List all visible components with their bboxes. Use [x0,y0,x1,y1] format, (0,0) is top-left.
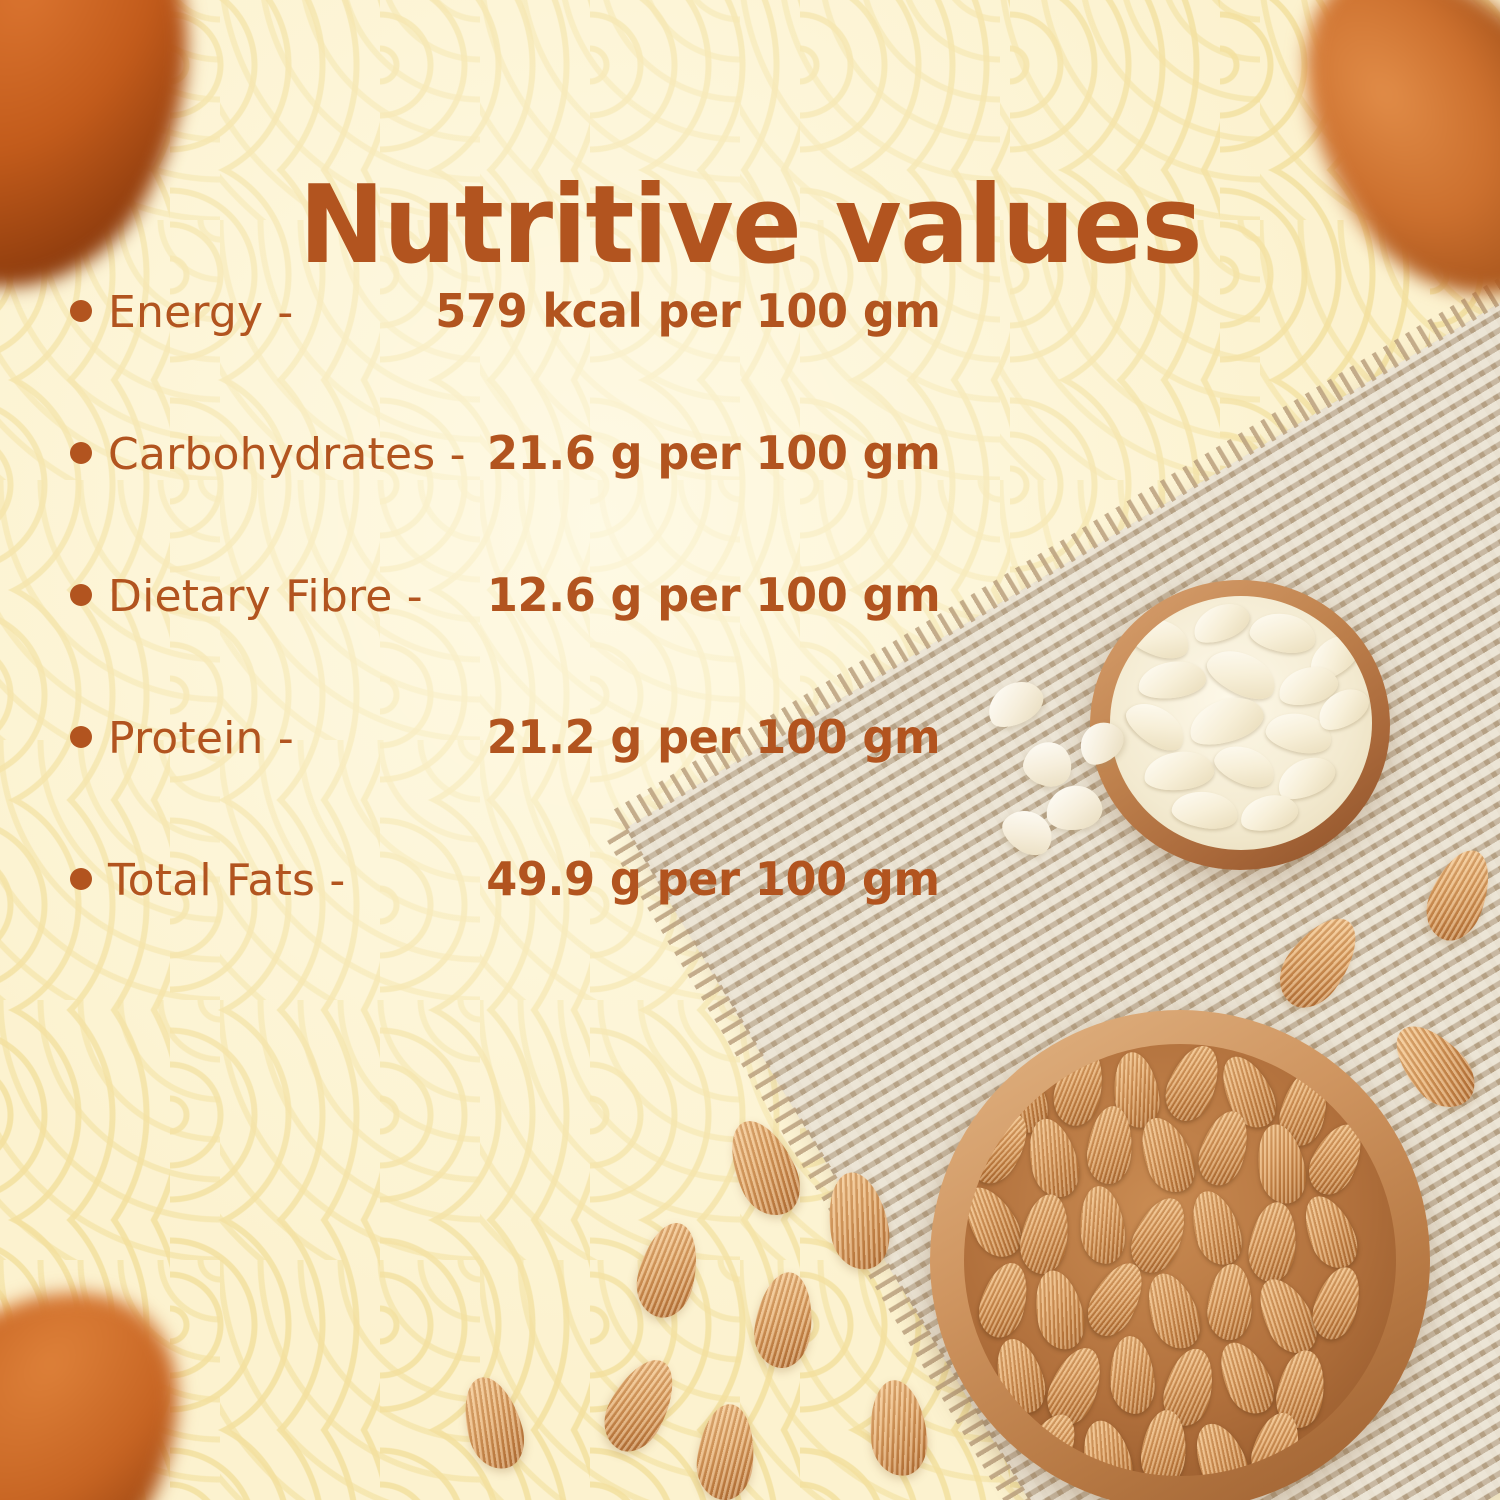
nutrient-row-dietary-fibre: Dietary Fibre - 12.6 g per 100 gm [70,568,940,710]
nutrient-row-total-fats: Total Fats - 49.9 g per 100 gm [70,852,940,994]
bullet-dot-icon [70,584,92,606]
bullet-dot-icon [70,300,92,322]
nutrient-row-protein: Protein - 21.2 g per 100 gm [70,710,940,852]
nutrient-list: Energy - 579 kcal per 100 gm Carbohydrat… [70,284,940,994]
bowl-interior [1110,596,1372,850]
bullet-dot-icon [70,442,92,464]
nutrient-value: 579 kcal per 100 gm [313,284,940,338]
page-title: Nutritive values [38,168,1463,285]
nutrient-value: 21.2 g per 100 gm [313,710,940,764]
nutrient-row-carbohydrates: Carbohydrates - 21.6 g per 100 gm [70,426,940,568]
nutrient-value: 12.6 g per 100 gm [438,568,940,622]
nutrient-label: Total Fats - [108,855,345,906]
bowl-interior [964,1044,1396,1476]
nutrient-label: Carbohydrates - [108,429,466,480]
nutrient-label: Protein - [108,713,294,764]
bowl-whole-almonds [930,1010,1430,1500]
bullet-dot-icon [70,868,92,890]
nutrient-value: 21.6 g per 100 gm [480,426,940,480]
bowl-sliced-almonds [1090,580,1390,870]
nutrient-label: Energy - [108,287,294,338]
nutrient-value: 49.9 g per 100 gm [363,852,940,906]
bullet-dot-icon [70,726,92,748]
nutrient-row-energy: Energy - 579 kcal per 100 gm [70,284,940,426]
nutrient-label: Dietary Fibre - [108,571,423,622]
nutritive-values-poster: Nutritive values Energy - 579 kcal per 1… [0,0,1500,1500]
